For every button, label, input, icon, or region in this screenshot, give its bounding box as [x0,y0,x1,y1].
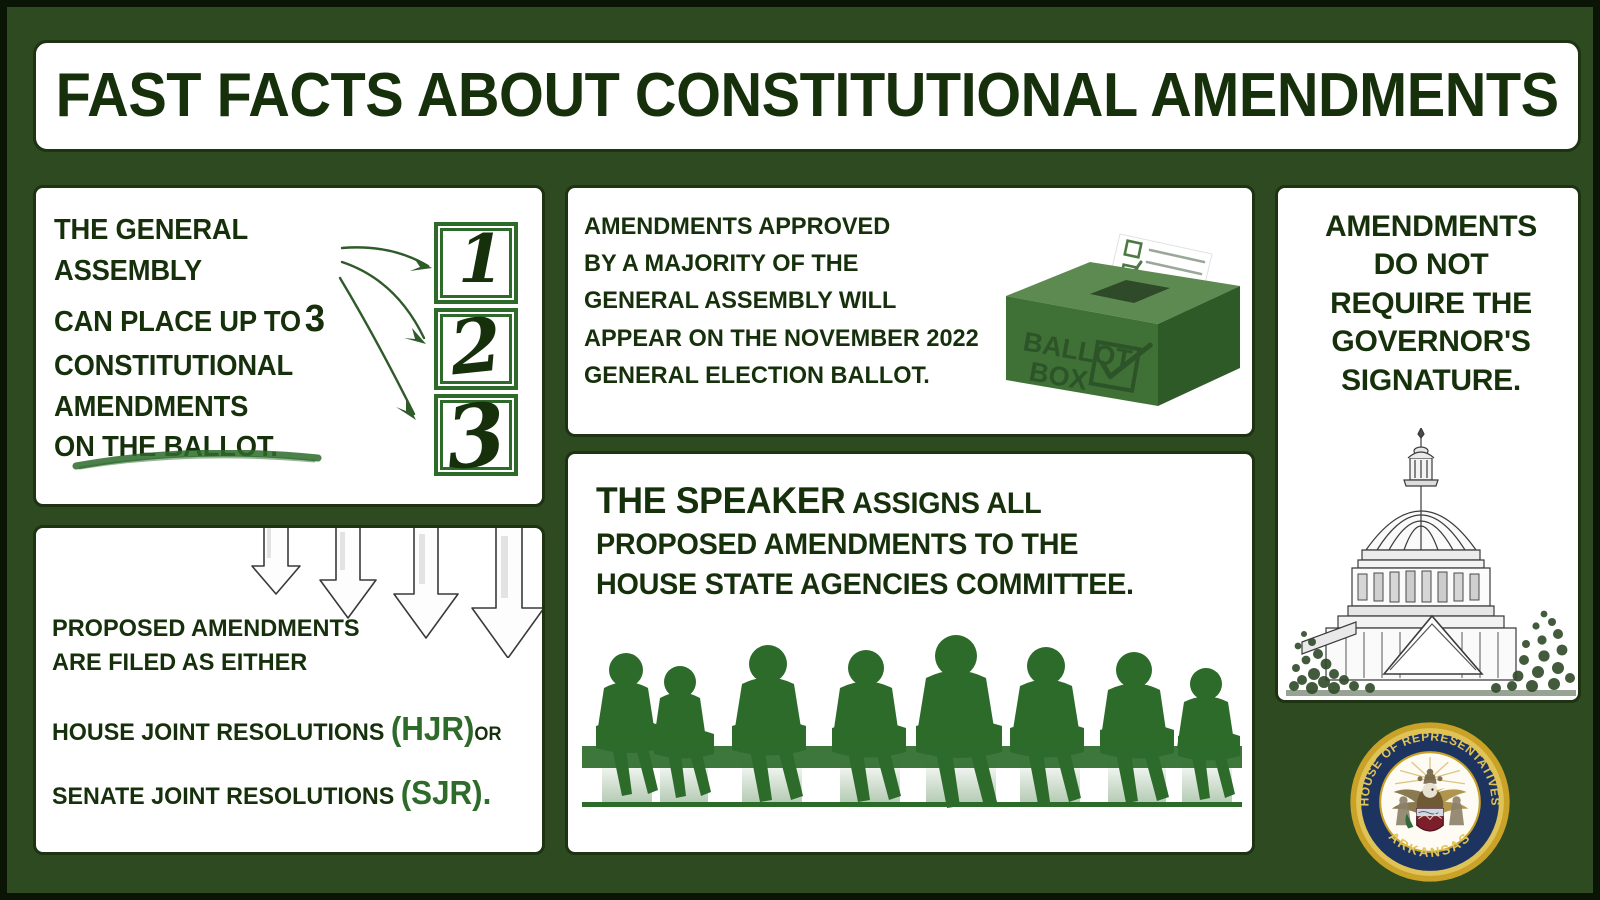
sjr-abbreviation: (SJR) [401,774,483,811]
hjr-label: HOUSE JOINT RESOLUTIONS [52,719,384,746]
ballot-line-3: GENERAL ASSEMBLY WILL [584,287,896,314]
page-title: FAST FACTS ABOUT CONSTITUTIONAL AMENDMEN… [55,65,1558,127]
assembly-line-4: AMENDMENTS [54,391,248,423]
page-title-card: FAST FACTS ABOUT CONSTITUTIONAL AMENDMEN… [33,40,1581,152]
hjr-abbreviation: (HJR) [391,710,475,747]
infographic-root: FAST FACTS ABOUT CONSTITUTIONAL AMENDMEN… [0,0,1600,900]
ballot-box-slot-1 [434,222,518,304]
curved-arrows-icon [336,218,446,448]
resolutions-hjr-line: HOUSE JOINT RESOLUTIONS (HJR)OR [52,710,527,748]
governor-line-2: DO NOT [1374,248,1489,281]
resolutions-sjr-line: SENATE JOINT RESOLUTIONS (SJR). [52,774,527,812]
assembly-number-three: 3 [301,298,325,340]
ballot-box-slot-2 [434,308,518,390]
governor-line-4: GOVERNOR'S [1331,325,1530,358]
ballot-box-icon: BALLOT BOX [998,200,1246,420]
ballot-line-1: AMENDMENTS APPROVED [584,213,890,240]
governor-line-1: AMENDMENTS [1325,210,1537,243]
panel-proposed-resolutions: PROPOSED AMENDMENTS ARE FILED AS EITHER … [33,525,545,855]
sjr-label: SENATE JOINT RESOLUTIONS [52,783,394,810]
assembly-line-1: THE GENERAL ASSEMBLY [54,214,247,287]
panel-general-assembly: THE GENERAL ASSEMBLY CAN PLACE UP TO3 CO… [33,185,545,507]
speaker-statement: THE SPEAKER ASSIGNS ALL PROPOSED AMENDME… [596,476,1201,605]
panel-speaker-assignment: THE SPEAKER ASSIGNS ALL PROPOSED AMENDME… [565,451,1255,855]
ballot-line-2: BY A MAJORITY OF THE [584,250,858,277]
speaker-emphasis: THE SPEAKER [596,480,845,521]
underline-swoosh-icon [72,450,322,470]
assembly-line-2-prefix: CAN PLACE UP TO [54,306,301,338]
resolutions-intro: PROPOSED AMENDMENTS ARE FILED AS EITHER [52,612,436,680]
capitol-dome-icon [1286,428,1576,696]
resolutions-line-2: ARE FILED AS EITHER [52,649,307,676]
ballot-line-5: GENERAL ELECTION BALLOT. [584,362,930,389]
committee-meeting-silhouette-icon [582,626,1242,855]
sjr-period: . [483,774,492,811]
governor-statement: AMENDMENTS DO NOT REQUIRE THE GOVERNOR'S… [1286,208,1576,400]
governor-line-3: REQUIRE THE [1330,287,1532,320]
hjr-conjunction: OR [474,724,501,745]
ballot-line-4: APPEAR ON THE NOVEMBER 2022 [584,325,979,352]
governor-line-5: SIGNATURE. [1341,364,1521,397]
speaker-line-1-rest: ASSIGNS ALL [852,487,1041,520]
speaker-line-2: PROPOSED AMENDMENTS TO THE [596,528,1078,561]
panel-ballot-approval: AMENDMENTS APPROVED BY A MAJORITY OF THE… [565,185,1255,437]
ballot-box-slot-3 [434,394,518,476]
arkansas-house-of-representatives-seal: HOUSE OF REPRESENTATIVES ARKANSAS [1347,719,1513,885]
ballot-statement: AMENDMENTS APPROVED BY A MAJORITY OF THE… [584,208,1016,394]
assembly-line-3: CONSTITUTIONAL [54,350,293,382]
panel-governor-signature: AMENDMENTS DO NOT REQUIRE THE GOVERNOR'S… [1275,185,1581,703]
speaker-line-3: HOUSE STATE AGENCIES COMMITTEE. [596,568,1134,601]
resolutions-line-1: PROPOSED AMENDMENTS [52,615,360,642]
